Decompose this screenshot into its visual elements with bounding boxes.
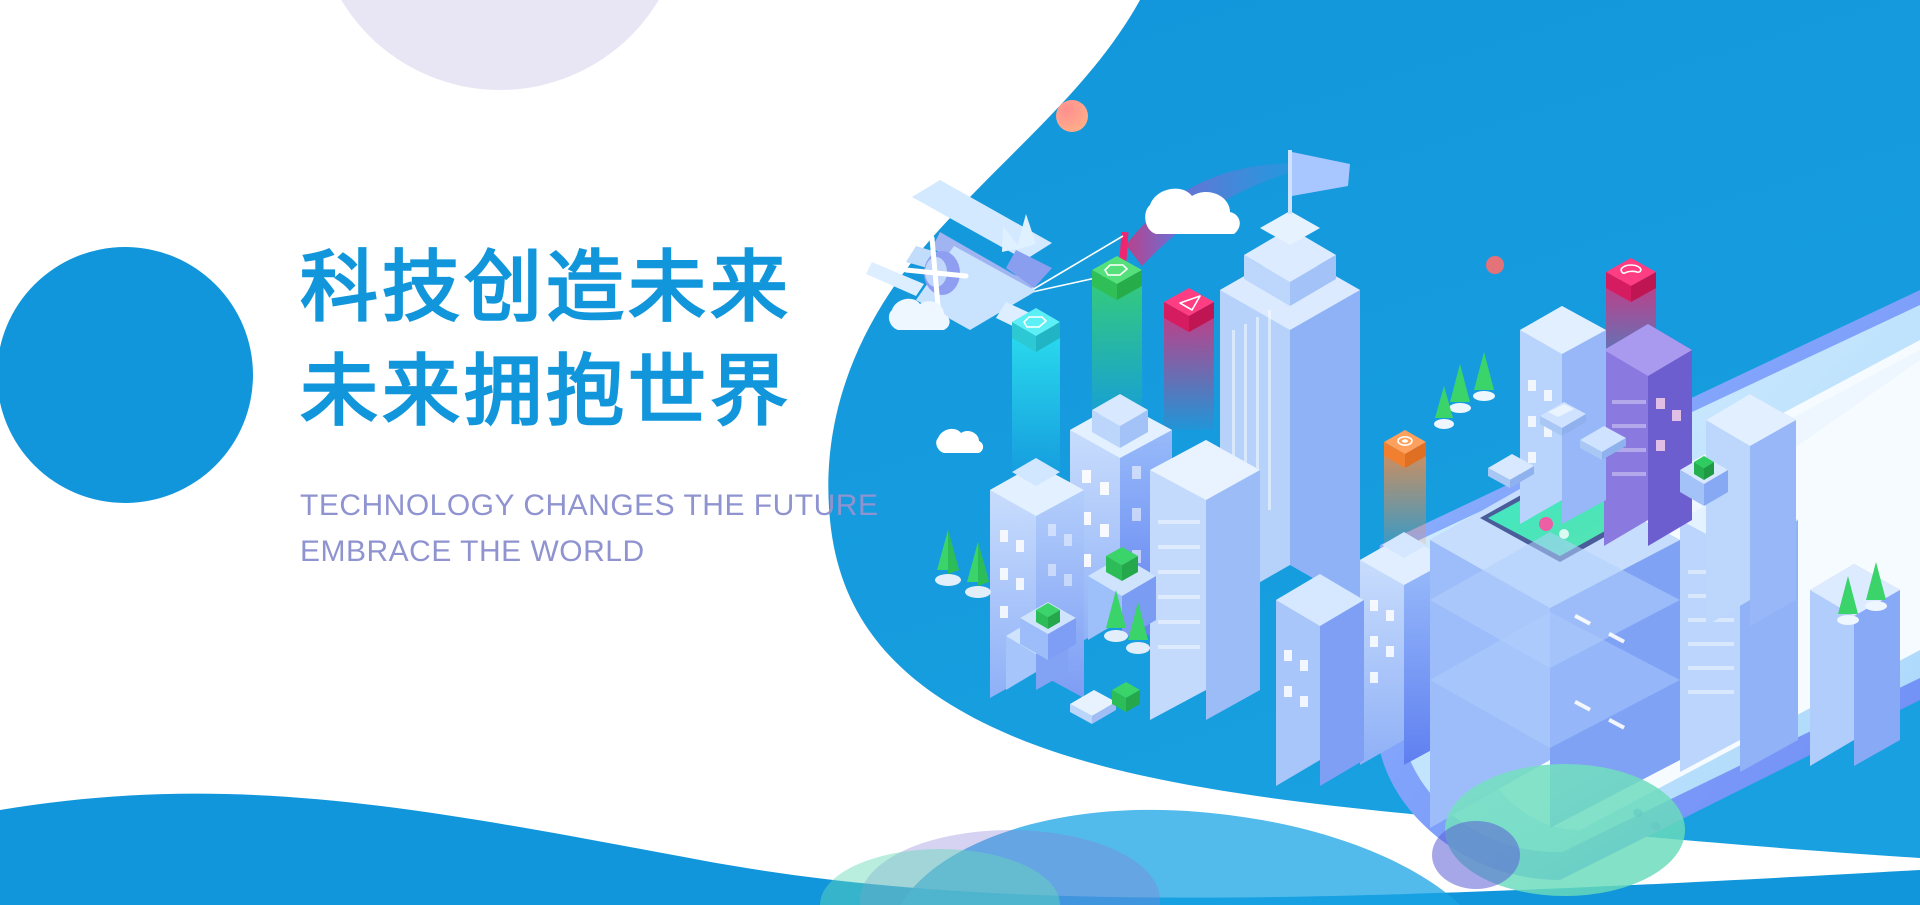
subtitle-line-1: TECHNOLOGY CHANGES THE FUTURE — [300, 483, 940, 529]
balloon-icon — [1056, 100, 1088, 132]
illustration-isometric-city — [820, 0, 1920, 905]
headline-line-1: 科技创造未来 — [300, 236, 940, 340]
page-title: 科技创造未来 未来拥抱世界 — [300, 236, 940, 443]
flagpole — [1288, 150, 1292, 214]
purple-ellipse — [1432, 821, 1520, 889]
green-cube-bottom — [1112, 682, 1140, 712]
building-striped-left — [1150, 440, 1260, 720]
solid-blue-circle — [0, 247, 253, 503]
flag-icon — [1292, 152, 1350, 196]
subtitle-line-2: EMBRACE THE WORLD — [300, 529, 940, 575]
tree-group-right — [1434, 352, 1495, 429]
headline-line-2: 未来拥抱世界 — [300, 340, 940, 444]
copy-block: 科技创造未来 未来拥抱世界 TECHNOLOGY CHANGES THE FUT… — [300, 236, 940, 575]
building-front-small-a — [1276, 574, 1364, 786]
cloud-tiny-icon — [936, 429, 983, 453]
building-right-corner — [1706, 394, 1796, 626]
decor-ellipses — [820, 764, 1685, 905]
building-front-small-b — [1810, 564, 1900, 766]
banner-root: 科技创造未来 未来拥抱世界 TECHNOLOGY CHANGES THE FUT… — [0, 0, 1920, 905]
page-subtitle: TECHNOLOGY CHANGES THE FUTURE EMBRACE TH… — [300, 483, 940, 574]
